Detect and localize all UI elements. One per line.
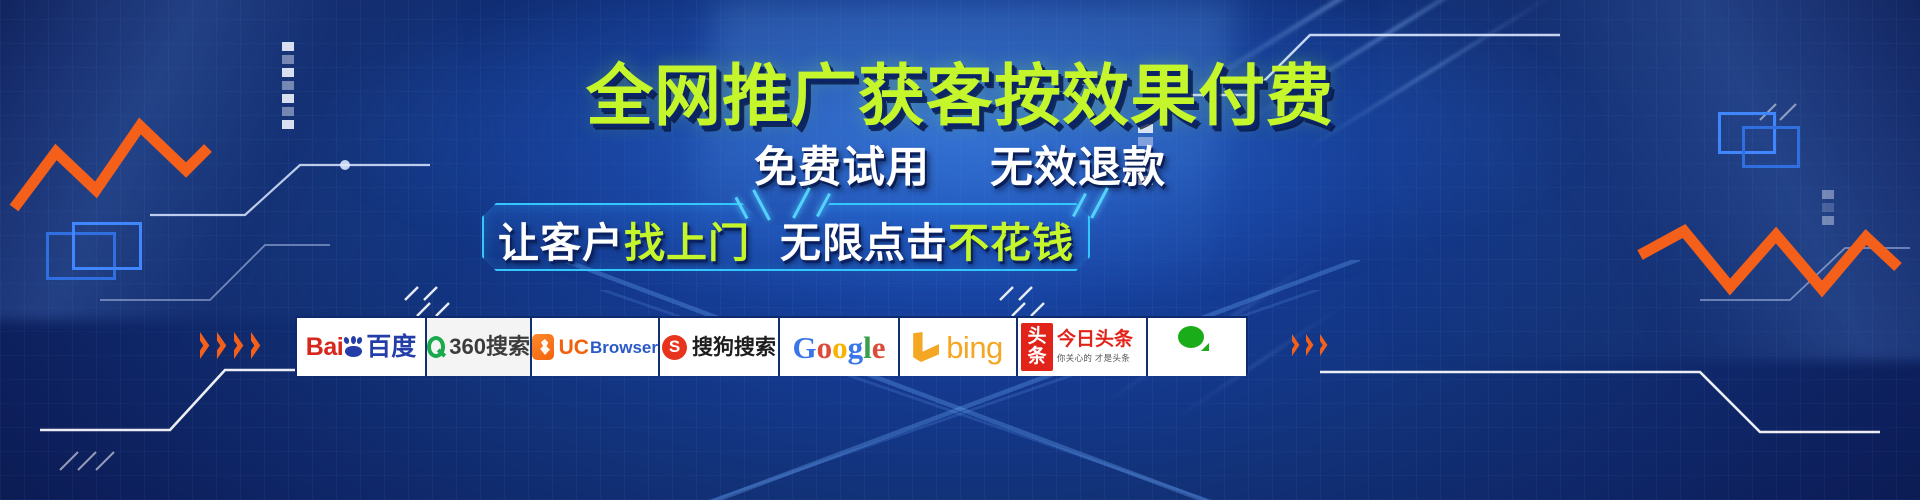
logo-google[interactable]: Google [780, 318, 900, 376]
bing-mark-icon [913, 332, 939, 362]
uc-browser-label: Browser [590, 339, 658, 356]
sogou-label: 搜狗搜索 [692, 337, 776, 358]
tagline-part1-white: 让客户 [498, 209, 624, 269]
toutiao-text-block: 今日头条 你关心的 才是头条 [1057, 330, 1133, 365]
chevron-v-outline-large [560, 260, 1360, 500]
chevron-right-icon [251, 332, 266, 359]
baidu-cn-label: 百度 [366, 335, 416, 360]
deco-rect-left-front [72, 222, 142, 270]
banner-headline: 全网推广获客按效果付费 [0, 42, 1920, 139]
chevron-right-icon [1306, 334, 1318, 356]
360-ring-icon [427, 336, 445, 358]
logo-uc-browser[interactable]: UC Browser [532, 318, 660, 376]
subline-right: 无效退款 [990, 144, 1166, 192]
chevron-right-icon [200, 332, 215, 359]
subline-left: 免费试用 [754, 144, 930, 192]
chevron-arrows-right [1292, 334, 1332, 356]
sogou-circle-icon: S [662, 335, 687, 360]
deco-rect-left-back [46, 232, 116, 280]
chevron-right-icon [234, 332, 249, 359]
baidu-latin-label: Bai [306, 335, 343, 360]
bing-label: bing [946, 332, 1003, 363]
tagline-part2-white: 无限点击 [780, 209, 948, 269]
zigzag-orange-right [1640, 215, 1900, 315]
chevron-right-icon [1320, 334, 1332, 356]
logo-360-search[interactable]: 360搜索 [427, 318, 532, 376]
banner-subline: 免费试用 无效退款 [0, 133, 1920, 195]
search-engine-logo-strip: Bai 百度 360搜索 UC Browser S 搜狗搜索 Google bi… [295, 316, 1248, 374]
toutiao-badge-icon: 头条 [1021, 323, 1053, 371]
chevron-right-icon [217, 332, 232, 359]
deco-square-stack-far-right [1822, 190, 1834, 225]
chevron-right-icon [1292, 334, 1304, 356]
logo-sogou-search[interactable]: S 搜狗搜索 [660, 318, 780, 376]
promo-banner: 全网推广获客按效果付费 免费试用 无效退款 让客户 找上门 无限点击 不花钱 B… [0, 0, 1920, 500]
logo-toutiao[interactable]: 头条 今日头条 你关心的 才是头条 [1018, 318, 1148, 376]
toutiao-slogan: 你关心的 才是头条 [1057, 352, 1130, 364]
banner-tagline: 让客户 找上门 无限点击 不花钱 [482, 206, 1090, 272]
logo-baidu[interactable]: Bai 百度 [297, 318, 427, 376]
tagline-part1-green: 找上门 [624, 209, 750, 269]
tagline-part2-green: 不花钱 [948, 209, 1074, 269]
uc-squirrel-icon [532, 334, 554, 360]
toutiao-label: 今日头条 [1057, 330, 1133, 351]
logo-wechat[interactable] [1148, 318, 1246, 376]
uc-label: UC [559, 337, 589, 358]
chevron-arrows-left [200, 332, 266, 359]
360-label: 360搜索 [449, 336, 530, 358]
logo-bing[interactable]: bing [900, 318, 1018, 376]
baidu-paw-icon [343, 336, 363, 358]
google-wordmark-icon: Google [792, 332, 885, 363]
